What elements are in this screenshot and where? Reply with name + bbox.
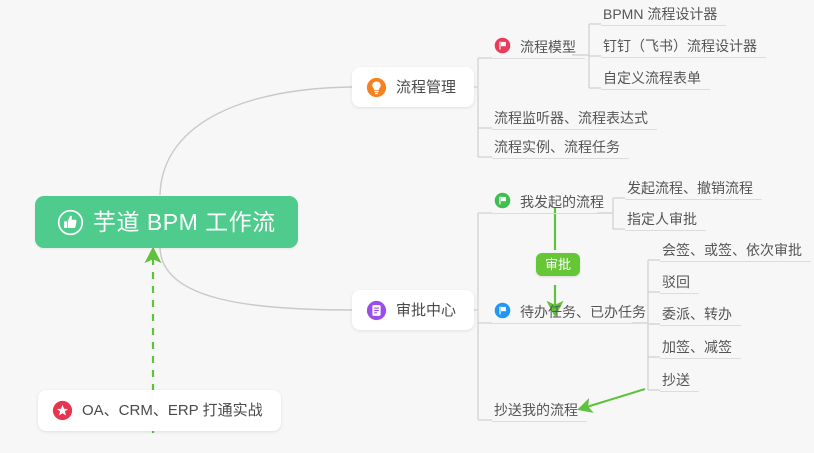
grandchild-node-delegate-transfer[interactable]: 委派、转办 <box>660 297 741 326</box>
grandchild-label-delegate-transfer: 委派、转办 <box>662 307 732 325</box>
grandchild-node-start-cancel-process[interactable]: 发起流程、撤销流程 <box>625 171 762 200</box>
branch-node-process-management[interactable]: 流程管理 <box>352 67 474 107</box>
flag-icon <box>494 37 511 54</box>
child-label-cc-to-me-process: 抄送我的流程 <box>494 403 578 421</box>
grandchild-label-cc: 抄送 <box>662 373 690 391</box>
child-label-process-listener-expression: 流程监听器、流程表达式 <box>494 111 648 129</box>
grandchild-label-start-cancel-process: 发起流程、撤销流程 <box>627 181 753 199</box>
document-icon <box>366 300 387 321</box>
grandchild-node-custom-process-form[interactable]: 自定义流程表单 <box>601 61 710 90</box>
approval-flow-badge: 审批 <box>536 253 580 276</box>
child-node-my-initiated-process[interactable]: 我发起的流程 <box>492 186 613 214</box>
branch-label-process-management: 流程管理 <box>396 80 456 95</box>
grandchild-node-add-remove-sign[interactable]: 加签、减签 <box>660 330 741 359</box>
grandchild-label-reject: 驳回 <box>662 275 690 293</box>
child-label-todo-done-task: 待办任务、已办任务 <box>520 305 646 323</box>
grandchild-node-cc[interactable]: 抄送 <box>660 363 699 392</box>
child-node-process-model[interactable]: 流程模型 <box>492 31 585 59</box>
child-label-process-instance-task: 流程实例、流程任务 <box>494 140 620 158</box>
footnote-node[interactable]: OA、CRM、ERP 打通实战 <box>38 390 281 431</box>
grandchild-node-countersign-orsign-sequential[interactable]: 会签、或签、依次审批 <box>660 233 811 262</box>
cc-relation-arrow <box>580 389 645 409</box>
grandchild-node-dingtalk-feishu-designer[interactable]: 钉钉（飞书）流程设计器 <box>601 29 766 58</box>
grandchild-label-bpmn-designer: BPMN 流程设计器 <box>603 7 717 25</box>
curve-root-to-approval-center <box>160 248 352 310</box>
child-node-todo-done-task[interactable]: 待办任务、已办任务 <box>492 296 655 324</box>
root-label: 芋道 BPM 工作流 <box>93 211 276 234</box>
branch-label-approval-center: 审批中心 <box>396 303 456 318</box>
grandchild-node-bpmn-designer[interactable]: BPMN 流程设计器 <box>601 0 726 26</box>
child-node-cc-to-me-process[interactable]: 抄送我的流程 <box>492 393 587 422</box>
root-node[interactable]: 芋道 BPM 工作流 <box>35 196 298 248</box>
branch-node-approval-center[interactable]: 审批中心 <box>352 290 474 330</box>
thumbs-up-icon <box>57 209 84 236</box>
flag-icon <box>494 302 511 319</box>
child-node-process-listener-expression[interactable]: 流程监听器、流程表达式 <box>492 101 657 130</box>
child-label-process-model: 流程模型 <box>520 40 576 58</box>
approval-flow-badge-label: 审批 <box>545 257 571 272</box>
grandchild-label-countersign-orsign-sequential: 会签、或签、依次审批 <box>662 243 802 261</box>
flag-icon <box>494 192 511 209</box>
grandchild-node-reject[interactable]: 驳回 <box>660 265 699 294</box>
grandchild-label-assignee-approval: 指定人审批 <box>627 212 697 230</box>
lightbulb-icon <box>366 77 387 98</box>
grandchild-label-add-remove-sign: 加签、减签 <box>662 340 732 358</box>
footnote-label: OA、CRM、ERP 打通实战 <box>82 403 263 418</box>
curve-root-to-process-management <box>160 87 352 195</box>
star-icon <box>52 400 73 421</box>
grandchild-label-custom-process-form: 自定义流程表单 <box>603 71 701 89</box>
mindmap-canvas: 芋道 BPM 工作流 OA、CRM、ERP 打通实战 流程管理 <box>0 0 814 453</box>
grandchild-node-assignee-approval[interactable]: 指定人审批 <box>625 202 706 231</box>
child-label-my-initiated-process: 我发起的流程 <box>520 195 604 213</box>
grandchild-label-dingtalk-feishu-designer: 钉钉（飞书）流程设计器 <box>603 39 757 57</box>
child-node-process-instance-task[interactable]: 流程实例、流程任务 <box>492 130 629 159</box>
